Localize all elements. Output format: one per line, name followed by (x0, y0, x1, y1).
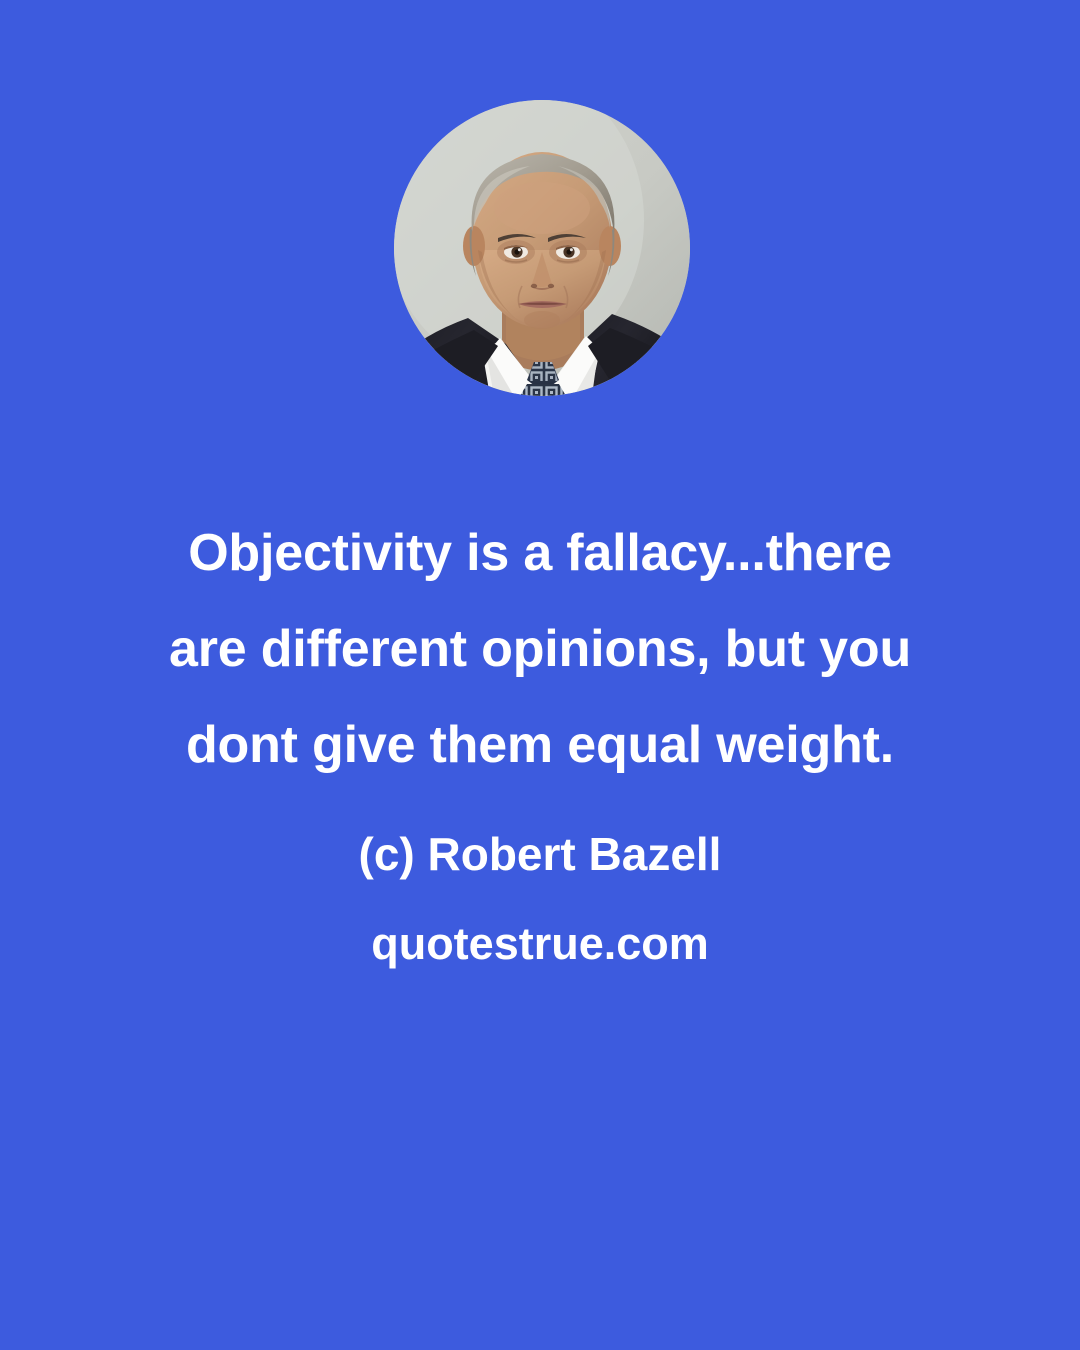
portrait-illustration (394, 100, 690, 396)
quote-card: Objectivity is a fallacy...there are dif… (0, 0, 1080, 1350)
quote-line-3: dont give them equal weight. (90, 697, 990, 793)
attribution: (c) Robert Bazell quotestrue.com (0, 809, 1080, 989)
quote-author: (c) Robert Bazell (0, 809, 1080, 899)
quote-line-1: Objectivity is a fallacy...there (90, 505, 990, 601)
quote-line-2: are different opinions, but you (90, 601, 990, 697)
portrait-photo (394, 100, 690, 396)
quote-text: Objectivity is a fallacy...there are dif… (0, 505, 1080, 793)
source-website: quotestrue.com (0, 899, 1080, 989)
